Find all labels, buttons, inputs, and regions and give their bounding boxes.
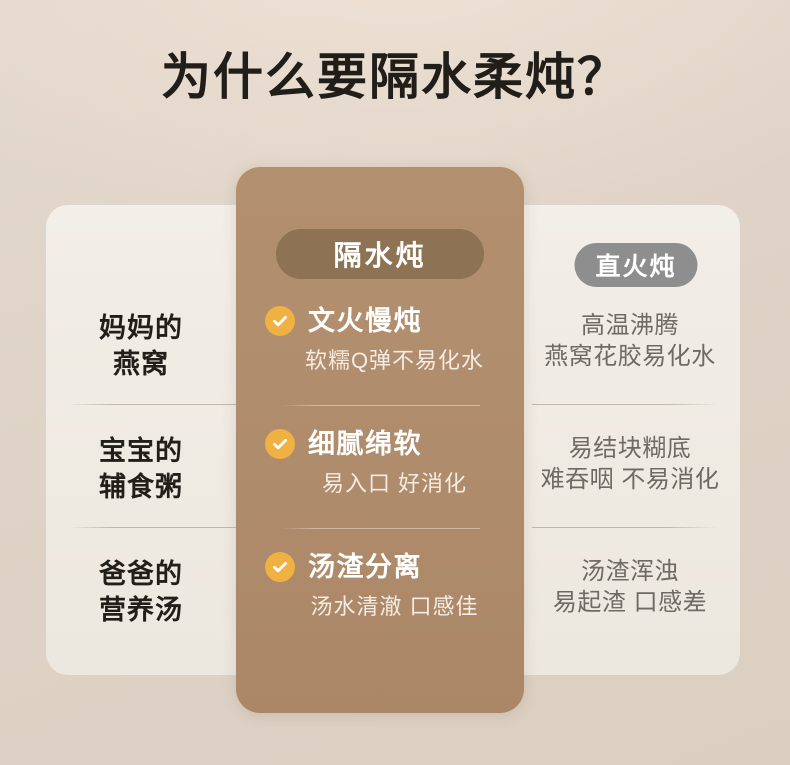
- row-divider: [532, 527, 718, 528]
- scenario-label-3: 爸爸的 营养汤: [46, 557, 236, 628]
- water-stew-row-1: 文火慢炖 软糯Q弹不易化水: [236, 306, 524, 372]
- water-stew-row-2-title: 细腻绵软: [308, 431, 422, 458]
- direct-fire-row-1-line1: 高温沸腾: [520, 310, 740, 341]
- water-stew-badge: 隔水炖: [276, 229, 484, 279]
- row-divider: [280, 528, 480, 529]
- row-divider: [68, 527, 236, 528]
- scenario-label-2-line2: 辅食粥: [46, 470, 236, 506]
- scenario-label-2-line1: 宝宝的: [46, 434, 236, 470]
- scenario-label-3-line2: 营养汤: [46, 593, 236, 629]
- scenario-label-1-line1: 妈妈的: [46, 311, 236, 347]
- row-divider: [280, 405, 480, 406]
- direct-fire-row-2-line1: 易结块糊底: [520, 433, 740, 464]
- water-stew-row-2-head: 细腻绵软: [236, 429, 524, 459]
- row-divider: [68, 404, 236, 405]
- direct-fire-row-3: 汤渣浑浊 易起渣 口感差: [520, 556, 740, 618]
- comparison-infographic: 为什么要隔水柔炖？ 妈妈的 燕窝 宝宝的 辅食粥 爸爸的 营养汤 直火炖: [0, 0, 790, 765]
- water-stew-row-3-head: 汤渣分离: [236, 552, 524, 582]
- scenario-label-2: 宝宝的 辅食粥: [46, 434, 236, 505]
- check-circle-icon: [265, 306, 295, 336]
- scenario-label-1-line2: 燕窝: [46, 347, 236, 383]
- scenario-column: 妈妈的 燕窝 宝宝的 辅食粥 爸爸的 营养汤: [46, 205, 236, 675]
- scenario-label-1: 妈妈的 燕窝: [46, 311, 236, 382]
- water-stew-row-1-head: 文火慢炖: [236, 306, 524, 336]
- direct-fire-row-1-line2: 燕窝花胶易化水: [520, 341, 740, 372]
- direct-fire-row-2: 易结块糊底 难吞咽 不易消化: [520, 433, 740, 495]
- water-stew-row-3: 汤渣分离 汤水清澈 口感佳: [236, 552, 524, 618]
- direct-fire-row-1: 高温沸腾 燕窝花胶易化水: [520, 310, 740, 372]
- water-stew-row-1-subtitle: 软糯Q弹不易化水: [236, 350, 524, 372]
- check-circle-icon: [265, 552, 295, 582]
- water-stew-row-3-title: 汤渣分离: [308, 554, 422, 581]
- row-divider: [532, 404, 718, 405]
- water-stew-row-1-title: 文火慢炖: [308, 308, 422, 335]
- water-stew-row-3-subtitle: 汤水清澈 口感佳: [236, 596, 524, 618]
- water-stew-row-2: 细腻绵软 易入口 好消化: [236, 429, 524, 495]
- direct-fire-column: 直火炖 高温沸腾 燕窝花胶易化水 易结块糊底 难吞咽 不易消化 汤渣浑浊 易起渣…: [532, 205, 740, 675]
- direct-fire-row-3-line1: 汤渣浑浊: [520, 556, 740, 587]
- page-title: 为什么要隔水柔炖？: [0, 52, 790, 102]
- water-stew-column: 隔水炖 文火慢炖 软糯Q弹不易化水 细腻绵软: [236, 167, 524, 713]
- scenario-label-3-line1: 爸爸的: [46, 557, 236, 593]
- direct-fire-badge: 直火炖: [575, 243, 698, 287]
- direct-fire-row-3-line2: 易起渣 口感差: [520, 587, 740, 618]
- direct-fire-row-2-line2: 难吞咽 不易消化: [520, 464, 740, 495]
- water-stew-row-2-subtitle: 易入口 好消化: [236, 473, 524, 495]
- check-circle-icon: [265, 429, 295, 459]
